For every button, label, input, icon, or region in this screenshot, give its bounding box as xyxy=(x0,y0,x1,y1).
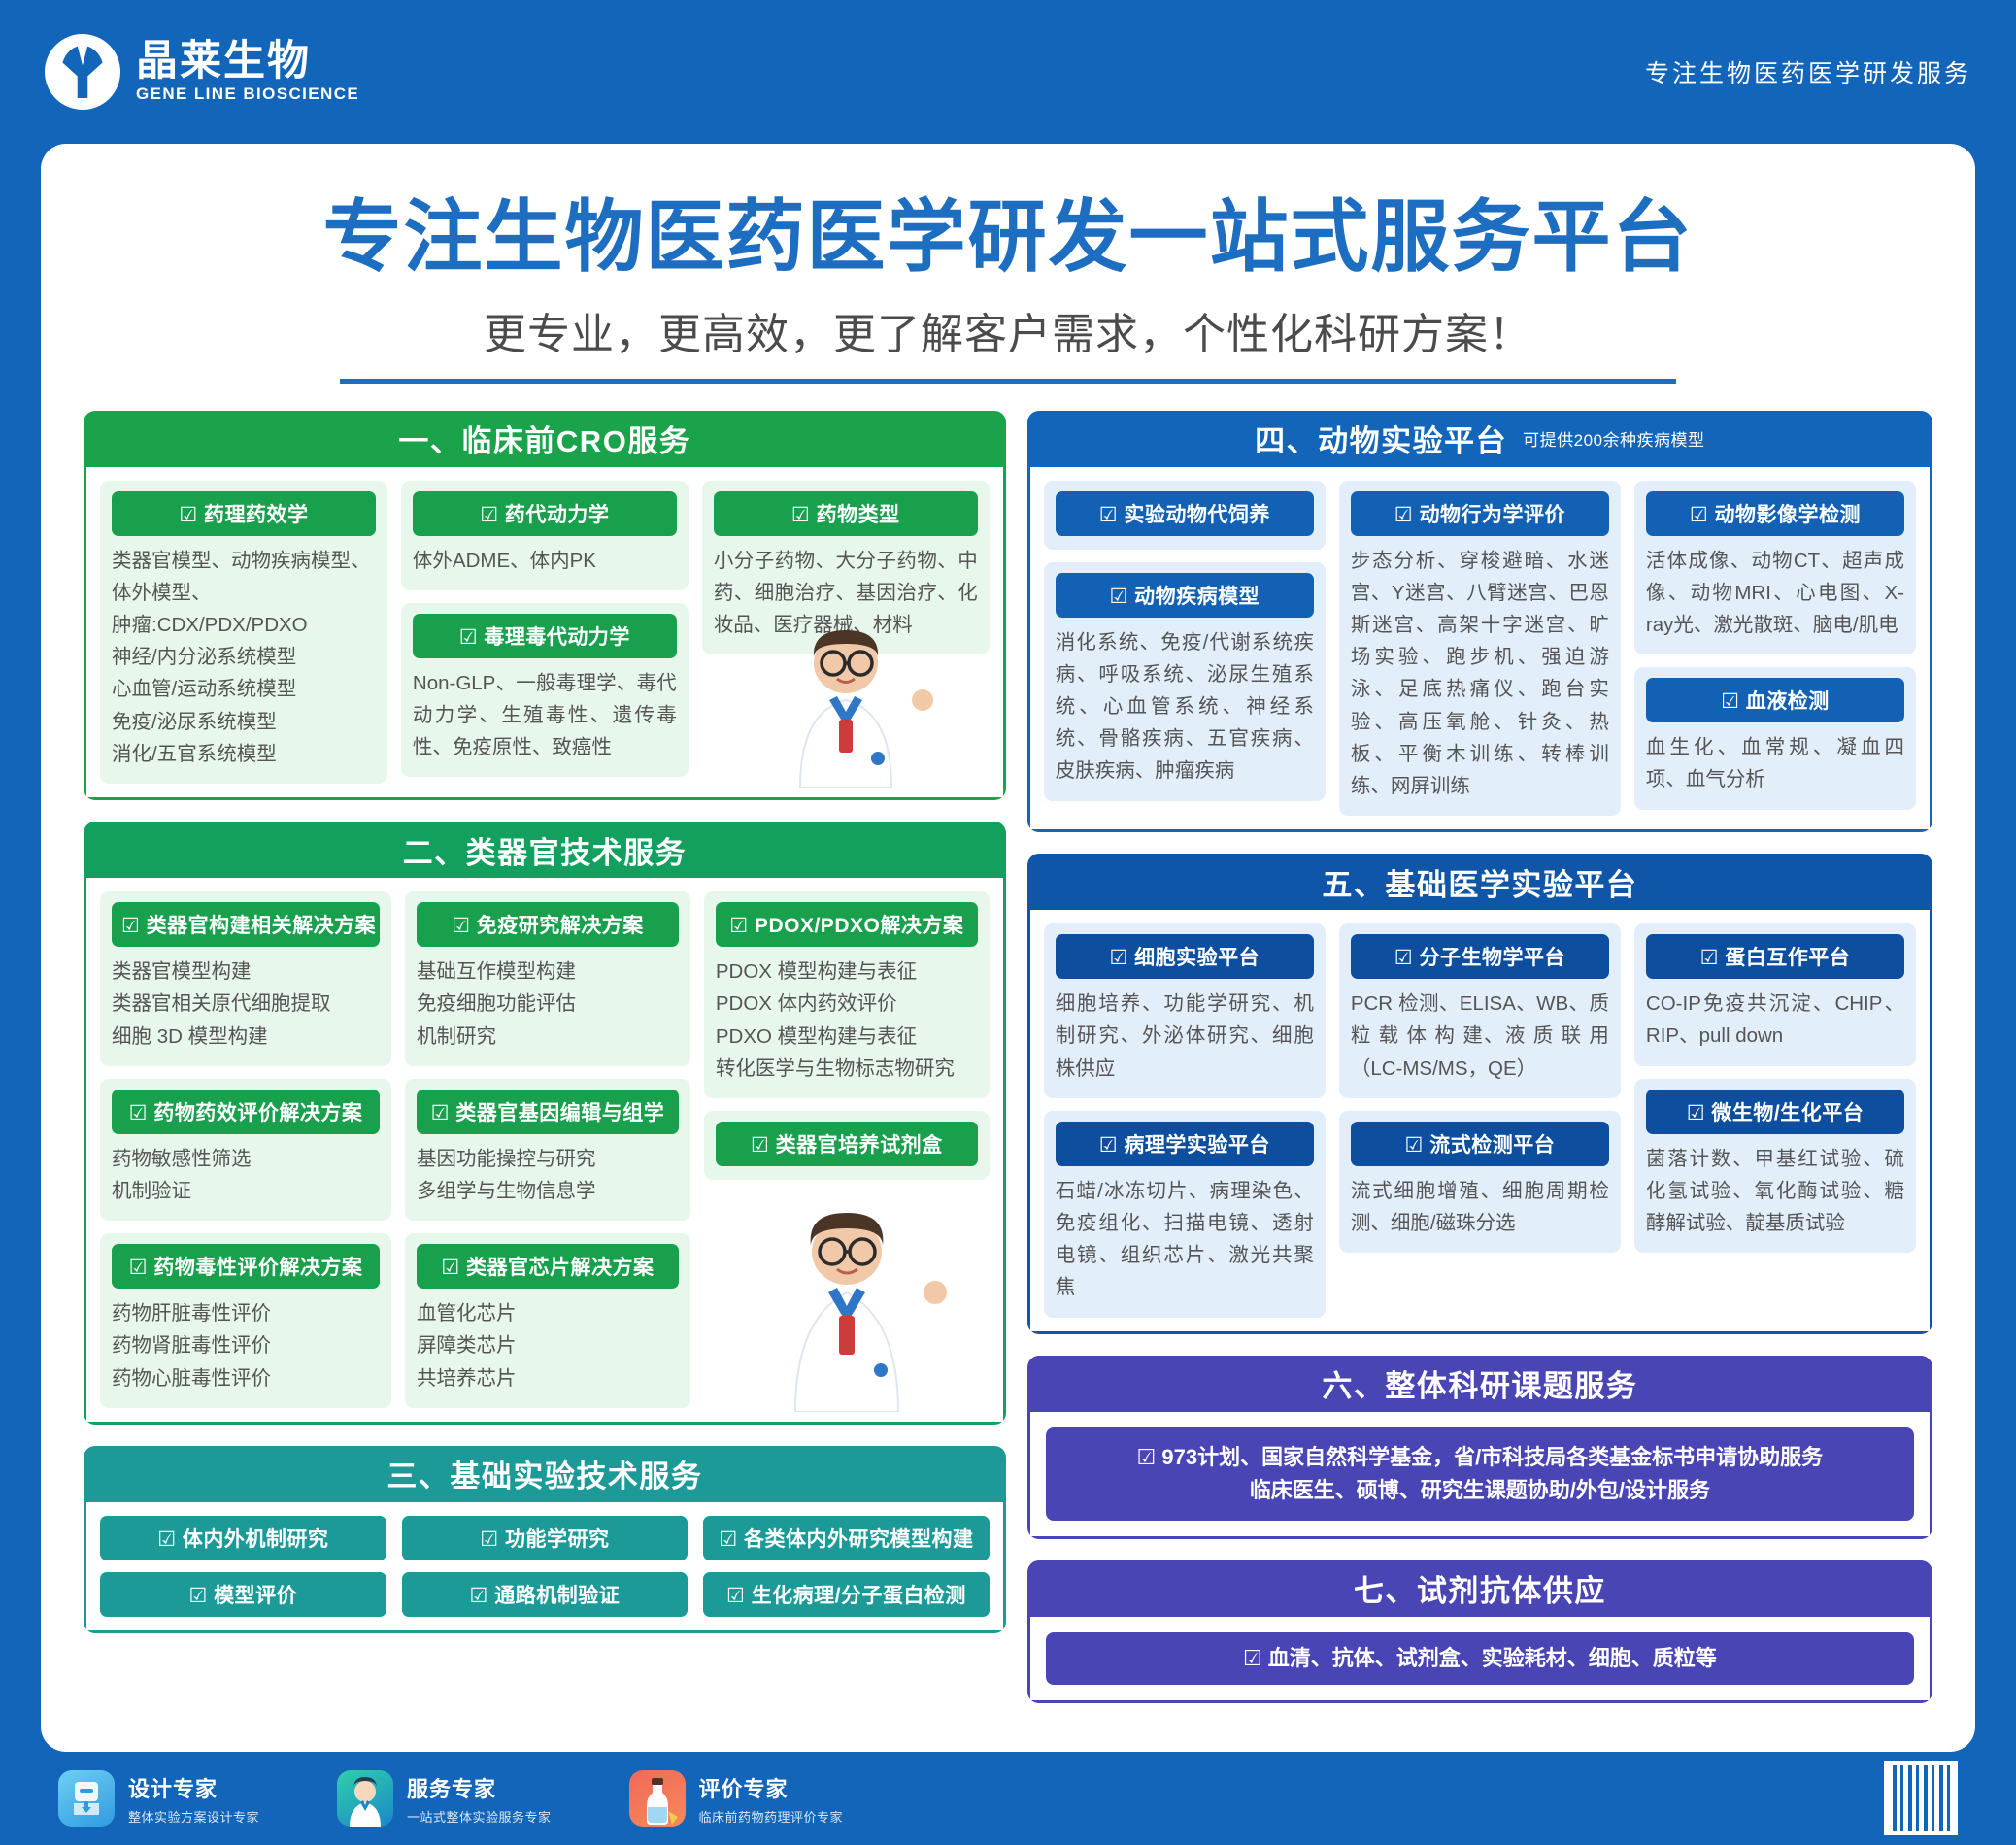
card-blood-test-text: 血生化、血常规、凝血四项、血气分析 xyxy=(1646,731,1904,795)
section-7-header: 七、试剂抗体供应 xyxy=(1027,1560,1932,1617)
card-animal-behavior-pill: ☑ 动物行为学评价 xyxy=(1351,491,1609,536)
card-organ-chip-text: 血管化芯片 屏障类芯片 共培养芯片 xyxy=(417,1297,679,1394)
card-protein-interaction-platform-text: CO-IP免疫共沉淀、CHIP、RIP、pull down xyxy=(1646,988,1904,1052)
expert-service-desc: 一站式整体实验服务专家 xyxy=(407,1807,552,1826)
gene-line-logo-icon xyxy=(45,34,120,110)
expert-design: 设计专家 整体实验方案设计专家 xyxy=(58,1770,259,1827)
section-6-title: 六、整体科研课题服务 xyxy=(1322,1361,1637,1405)
section-organoid-tech: 二、类器官技术服务 ☑ 类器官构建相关解决方案 类器官模型构建 类器官相关原代细… xyxy=(84,822,1006,1425)
brand-name-en: GENE LINE BIOSCIENCE xyxy=(136,84,359,104)
main-sheet: 专注生物医药医学研发一站式服务平台 更专业，更高效，更了解客户需求，个性化科研方… xyxy=(41,144,1975,1752)
card-flow-cytometry-platform-pill: ☑ 流式检测平台 xyxy=(1351,1122,1609,1166)
pill-invivo-invitro-mechanism[interactable]: ☑ 体内外机制研究 xyxy=(100,1516,386,1560)
section-6-header: 六、整体科研课题服务 xyxy=(1027,1356,1932,1412)
card-microbiology-platform-pill: ☑ 微生物/生化平台 xyxy=(1646,1090,1904,1134)
card-pdox-pdxo-text: PDOX 模型构建与表征 PDOX 体内药效评价 PDXO 模型构建与表征 转化… xyxy=(716,956,978,1085)
card-protein-interaction-platform[interactable]: ☑ 蛋白互作平台 CO-IP免疫共沉淀、CHIP、RIP、pull down xyxy=(1634,923,1916,1065)
page-header: 晶莱生物 GENE LINE BIOSCIENCE 专注生物医药医学研发服务 xyxy=(0,0,2016,144)
card-animal-disease-model-pill: ☑ 动物疾病模型 xyxy=(1056,573,1314,618)
card-blood-test[interactable]: ☑ 血液检测 血生化、血常规、凝血四项、血气分析 xyxy=(1634,667,1916,809)
card-efficacy-eval-text: 药物敏感性筛选 机制验证 xyxy=(112,1143,380,1207)
expert-evaluate-title: 评价专家 xyxy=(699,1772,844,1803)
card-gene-editing[interactable]: ☑ 类器官基因编辑与组学 基因功能操控与研究 多组学与生物信息学 xyxy=(405,1079,690,1221)
pill-biochem-protein-detection[interactable]: ☑ 生化病理/分子蛋白检测 xyxy=(703,1572,990,1617)
card-flow-cytometry-platform[interactable]: ☑ 流式检测平台 流式细胞增殖、细胞周期检测、细胞/磁珠分选 xyxy=(1339,1111,1621,1253)
card-animal-behavior-text: 步态分析、穿梭避暗、水迷宫、Y迷宫、八臂迷宫、巴恩斯迷宫、高架十字迷宫、旷场实验… xyxy=(1351,545,1609,803)
pill-functional-research[interactable]: ☑ 功能学研究 xyxy=(402,1516,689,1560)
card-animal-imaging-text: 活体成像、动物CT、超声成像、动物MRI、心电图、X-ray光、激光散斑、脑电/… xyxy=(1646,545,1904,642)
doctor-illustration-2 xyxy=(704,1192,990,1408)
card-efficacy-eval[interactable]: ☑ 药物药效评价解决方案 药物敏感性筛选 机制验证 xyxy=(100,1079,391,1221)
card-molecular-biology-platform-pill: ☑ 分子生物学平台 xyxy=(1351,934,1609,979)
card-pharmacokinetics-pill: ☑ 药代动力学 xyxy=(413,491,677,536)
card-immune-research[interactable]: ☑ 免疫研究解决方案 基础互作模型构建 免疫细胞功能评估 机制研究 xyxy=(405,891,690,1066)
design-icon xyxy=(58,1770,115,1827)
card-cell-platform[interactable]: ☑ 细胞实验平台 细胞培养、功能学研究、机制研究、外泌体研究、细胞株供应 xyxy=(1044,923,1326,1098)
card-gene-editing-text: 基因功能操控与研究 多组学与生物信息学 xyxy=(417,1143,679,1207)
section-4-note: 可提供200余种疾病模型 xyxy=(1523,426,1704,451)
card-organ-chip[interactable]: ☑ 类器官芯片解决方案 血管化芯片 屏障类芯片 共培养芯片 xyxy=(405,1233,690,1408)
card-culture-kit[interactable]: ☑ 类器官培养试剂盒 xyxy=(704,1111,990,1180)
card-toxicity-eval-pill: ☑ 药物毒性评价解决方案 xyxy=(112,1244,380,1289)
card-pharmacology-pill: ☑ 药理药效学 xyxy=(112,491,376,536)
card-organoid-construction-text: 类器官模型构建 类器官相关原代细胞提取 细胞 3D 模型构建 xyxy=(112,956,380,1053)
brand-logo: 晶莱生物 GENE LINE BIOSCIENCE xyxy=(45,34,359,110)
card-blood-test-pill: ☑ 血液检测 xyxy=(1646,678,1904,722)
card-flow-cytometry-platform-text: 流式细胞增殖、细胞周期检测、细胞/磁珠分选 xyxy=(1351,1175,1609,1239)
evaluate-icon xyxy=(629,1770,686,1827)
card-animal-imaging-pill: ☑ 动物影像学检测 xyxy=(1646,491,1904,536)
section-6-band[interactable]: ☑ 973计划、国家自然科学基金，省/市科技局各类基金标书申请协助服务 临床医生… xyxy=(1046,1427,1914,1521)
card-microbiology-platform[interactable]: ☑ 微生物/生化平台 菌落计数、甲基红试验、硫化氢试验、氧化酶试验、糖酵解试验、… xyxy=(1634,1079,1916,1254)
section-4-header: 四、动物实验平台 可提供200余种疾病模型 xyxy=(1027,411,1932,467)
card-toxicity-eval[interactable]: ☑ 药物毒性评价解决方案 药物肝脏毒性评价 药物肾脏毒性评价 药物心脏毒性评价 xyxy=(100,1233,391,1408)
header-tagline: 专注生物医药医学研发服务 xyxy=(1645,54,1971,89)
card-pathology-platform-text: 石蜡/冰冻切片、病理染色、免疫组化、扫描电镜、透射电镜、组织芯片、激光共聚焦 xyxy=(1056,1175,1314,1304)
card-efficacy-eval-pill: ☑ 药物药效评价解决方案 xyxy=(112,1090,380,1134)
card-cell-platform-pill: ☑ 细胞实验平台 xyxy=(1056,934,1314,979)
card-drug-types-pill: ☑ 药物类型 xyxy=(714,491,978,536)
expert-design-desc: 整体实验方案设计专家 xyxy=(128,1807,259,1826)
section-basic-experiment: 三、基础实验技术服务 ☑ 体内外机制研究 ☑ 功能学研究 ☑ 各类体内外研究模型… xyxy=(84,1446,1006,1633)
brand-name-cn: 晶莱生物 xyxy=(136,40,359,84)
card-cell-platform-text: 细胞培养、功能学研究、机制研究、外泌体研究、细胞株供应 xyxy=(1056,988,1314,1085)
card-animal-disease-model[interactable]: ☑ 动物疾病模型 消化系统、免疫/代谢系统疾病、呼吸系统、泌尿生殖系统、心血管系… xyxy=(1044,562,1326,801)
card-pharmacokinetics-text: 体外ADME、体内PK xyxy=(413,545,677,577)
expert-service-title: 服务专家 xyxy=(407,1772,552,1803)
section-animal-platform: 四、动物实验平台 可提供200余种疾病模型 ☑ 实验动物代饲养 ☑ 动物疾病模型… xyxy=(1027,411,1932,833)
section-preclinical-cro: 一、临床前CRO服务 ☑ 药理药效学 类器官模型、动物疾病模型、体外模型、 肿瘤… xyxy=(84,411,1006,801)
card-animal-disease-model-text: 消化系统、免疫/代谢系统疾病、呼吸系统、泌尿生殖系统、心血管系统、神经系统、骨骼… xyxy=(1056,626,1314,788)
section-3-title: 三、基础实验技术服务 xyxy=(386,1452,702,1495)
card-animal-breeding[interactable]: ☑ 实验动物代饲养 xyxy=(1044,481,1326,550)
expert-evaluate: 评价专家 临床前药物药理评价专家 xyxy=(629,1770,844,1827)
section-2-title: 二、类器官技术服务 xyxy=(403,828,688,872)
section-2-header: 二、类器官技术服务 xyxy=(84,822,1006,878)
pill-model-construction[interactable]: ☑ 各类体内外研究模型构建 xyxy=(703,1516,990,1560)
card-toxicology-text: Non-GLP、一般毒理学、毒代动力学、生殖毒性、遗传毒性、免疫原性、致癌性 xyxy=(413,667,677,764)
card-organoid-construction[interactable]: ☑ 类器官构建相关解决方案 类器官模型构建 类器官相关原代细胞提取 细胞 3D … xyxy=(100,891,391,1066)
section-4-title: 四、动物实验平台 xyxy=(1255,417,1507,460)
card-animal-breeding-pill: ☑ 实验动物代饲养 xyxy=(1056,491,1314,536)
page-footer: 设计专家 整体实验方案设计专家 服务专家 一站式整体实验服务专家 xyxy=(0,1752,2016,1845)
card-protein-interaction-platform-pill: ☑ 蛋白互作平台 xyxy=(1646,934,1904,979)
card-molecular-biology-platform[interactable]: ☑ 分子生物学平台 PCR 检测、ELISA、WB、质粒 载 体 构 建、液 质… xyxy=(1339,923,1621,1098)
card-pharmacology-text: 类器官模型、动物疾病模型、体外模型、 肿瘤:CDX/PDX/PDXO 神经/内分… xyxy=(112,545,376,770)
card-pdox-pdxo-pill: ☑ PDOX/PDXO解决方案 xyxy=(716,902,978,947)
card-culture-kit-pill: ☑ 类器官培养试剂盒 xyxy=(716,1122,978,1166)
card-microbiology-platform-text: 菌落计数、甲基红试验、硫化氢试验、氧化酶试验、糖酵解试验、靛基质试验 xyxy=(1646,1143,1904,1240)
qr-code-icon[interactable] xyxy=(1884,1761,1958,1835)
card-toxicology[interactable]: ☑ 毒理毒代动力学 Non-GLP、一般毒理学、毒代动力学、生殖毒性、遗传毒性、… xyxy=(401,603,689,778)
service-icon xyxy=(337,1770,393,1827)
section-1-header: 一、临床前CRO服务 xyxy=(84,411,1006,467)
card-immune-research-text: 基础互作模型构建 免疫细胞功能评估 机制研究 xyxy=(417,956,679,1053)
doctor-illustration-1 xyxy=(702,667,990,784)
section-5-title: 五、基础医学实验平台 xyxy=(1322,860,1637,904)
section-7-title: 七、试剂抗体供应 xyxy=(1354,1566,1606,1610)
card-pharmacokinetics[interactable]: ☑ 药代动力学 体外ADME、体内PK xyxy=(401,481,689,590)
pill-model-evaluation[interactable]: ☑ 模型评价 xyxy=(100,1572,386,1617)
card-toxicity-eval-text: 药物肝脏毒性评价 药物肾脏毒性评价 药物心脏毒性评价 xyxy=(112,1297,380,1394)
page-title: 专注生物医药医学研发一站式服务平台 xyxy=(62,192,1954,285)
section-1-title: 一、临床前CRO服务 xyxy=(398,417,690,460)
card-pdox-pdxo[interactable]: ☑ PDOX/PDXO解决方案 PDOX 模型构建与表征 PDOX 体内药效评价… xyxy=(704,891,990,1098)
section-3-header: 三、基础实验技术服务 xyxy=(84,1446,1006,1502)
card-toxicology-pill: ☑ 毒理毒代动力学 xyxy=(413,614,677,658)
card-immune-research-pill: ☑ 免疫研究解决方案 xyxy=(417,902,679,947)
expert-service: 服务专家 一站式整体实验服务专家 xyxy=(337,1770,552,1827)
card-organoid-construction-pill: ☑ 类器官构建相关解决方案 xyxy=(112,902,380,947)
section-reagent-antibody: 七、试剂抗体供应 ☑ 血清、抗体、试剂盒、实验耗材、细胞、质粒等 xyxy=(1027,1560,1932,1703)
card-animal-imaging[interactable]: ☑ 动物影像学检测 活体成像、动物CT、超声成像、动物MRI、心电图、X-ray… xyxy=(1634,481,1916,655)
card-molecular-biology-platform-text: PCR 检测、ELISA、WB、质粒 载 体 构 建、液 质 联 用（LC-MS… xyxy=(1351,988,1609,1085)
card-animal-behavior[interactable]: ☑ 动物行为学评价 步态分析、穿梭避暗、水迷宫、Y迷宫、八臂迷宫、巴恩斯迷宫、高… xyxy=(1339,481,1621,817)
section-7-band[interactable]: ☑ 血清、抗体、试剂盒、实验耗材、细胞、质粒等 xyxy=(1046,1632,1914,1685)
section-basic-medical-platform: 五、基础医学实验平台 ☑ 细胞实验平台 细胞培养、功能学研究、机制研究、外泌体研… xyxy=(1027,854,1932,1333)
expert-evaluate-desc: 临床前药物药理评价专家 xyxy=(699,1807,844,1826)
card-pharmacology[interactable]: ☑ 药理药效学 类器官模型、动物疾病模型、体外模型、 肿瘤:CDX/PDX/PD… xyxy=(100,481,387,784)
card-gene-editing-pill: ☑ 类器官基因编辑与组学 xyxy=(417,1090,679,1134)
section-research-project: 六、整体科研课题服务 ☑ 973计划、国家自然科学基金，省/市科技局各类基金标书… xyxy=(1027,1356,1932,1539)
page-subtitle: 更专业，更高效，更了解客户需求，个性化科研方案！ xyxy=(62,299,1954,377)
expert-design-title: 设计专家 xyxy=(128,1772,259,1803)
card-pathology-platform-pill: ☑ 病理学实验平台 xyxy=(1056,1122,1314,1166)
card-organ-chip-pill: ☑ 类器官芯片解决方案 xyxy=(417,1244,679,1289)
section-5-header: 五、基础医学实验平台 xyxy=(1027,854,1932,910)
pill-pathway-validation[interactable]: ☑ 通路机制验证 xyxy=(402,1572,689,1617)
card-pathology-platform[interactable]: ☑ 病理学实验平台 石蜡/冰冻切片、病理染色、免疫组化、扫描电镜、透射电镜、组织… xyxy=(1044,1111,1326,1318)
